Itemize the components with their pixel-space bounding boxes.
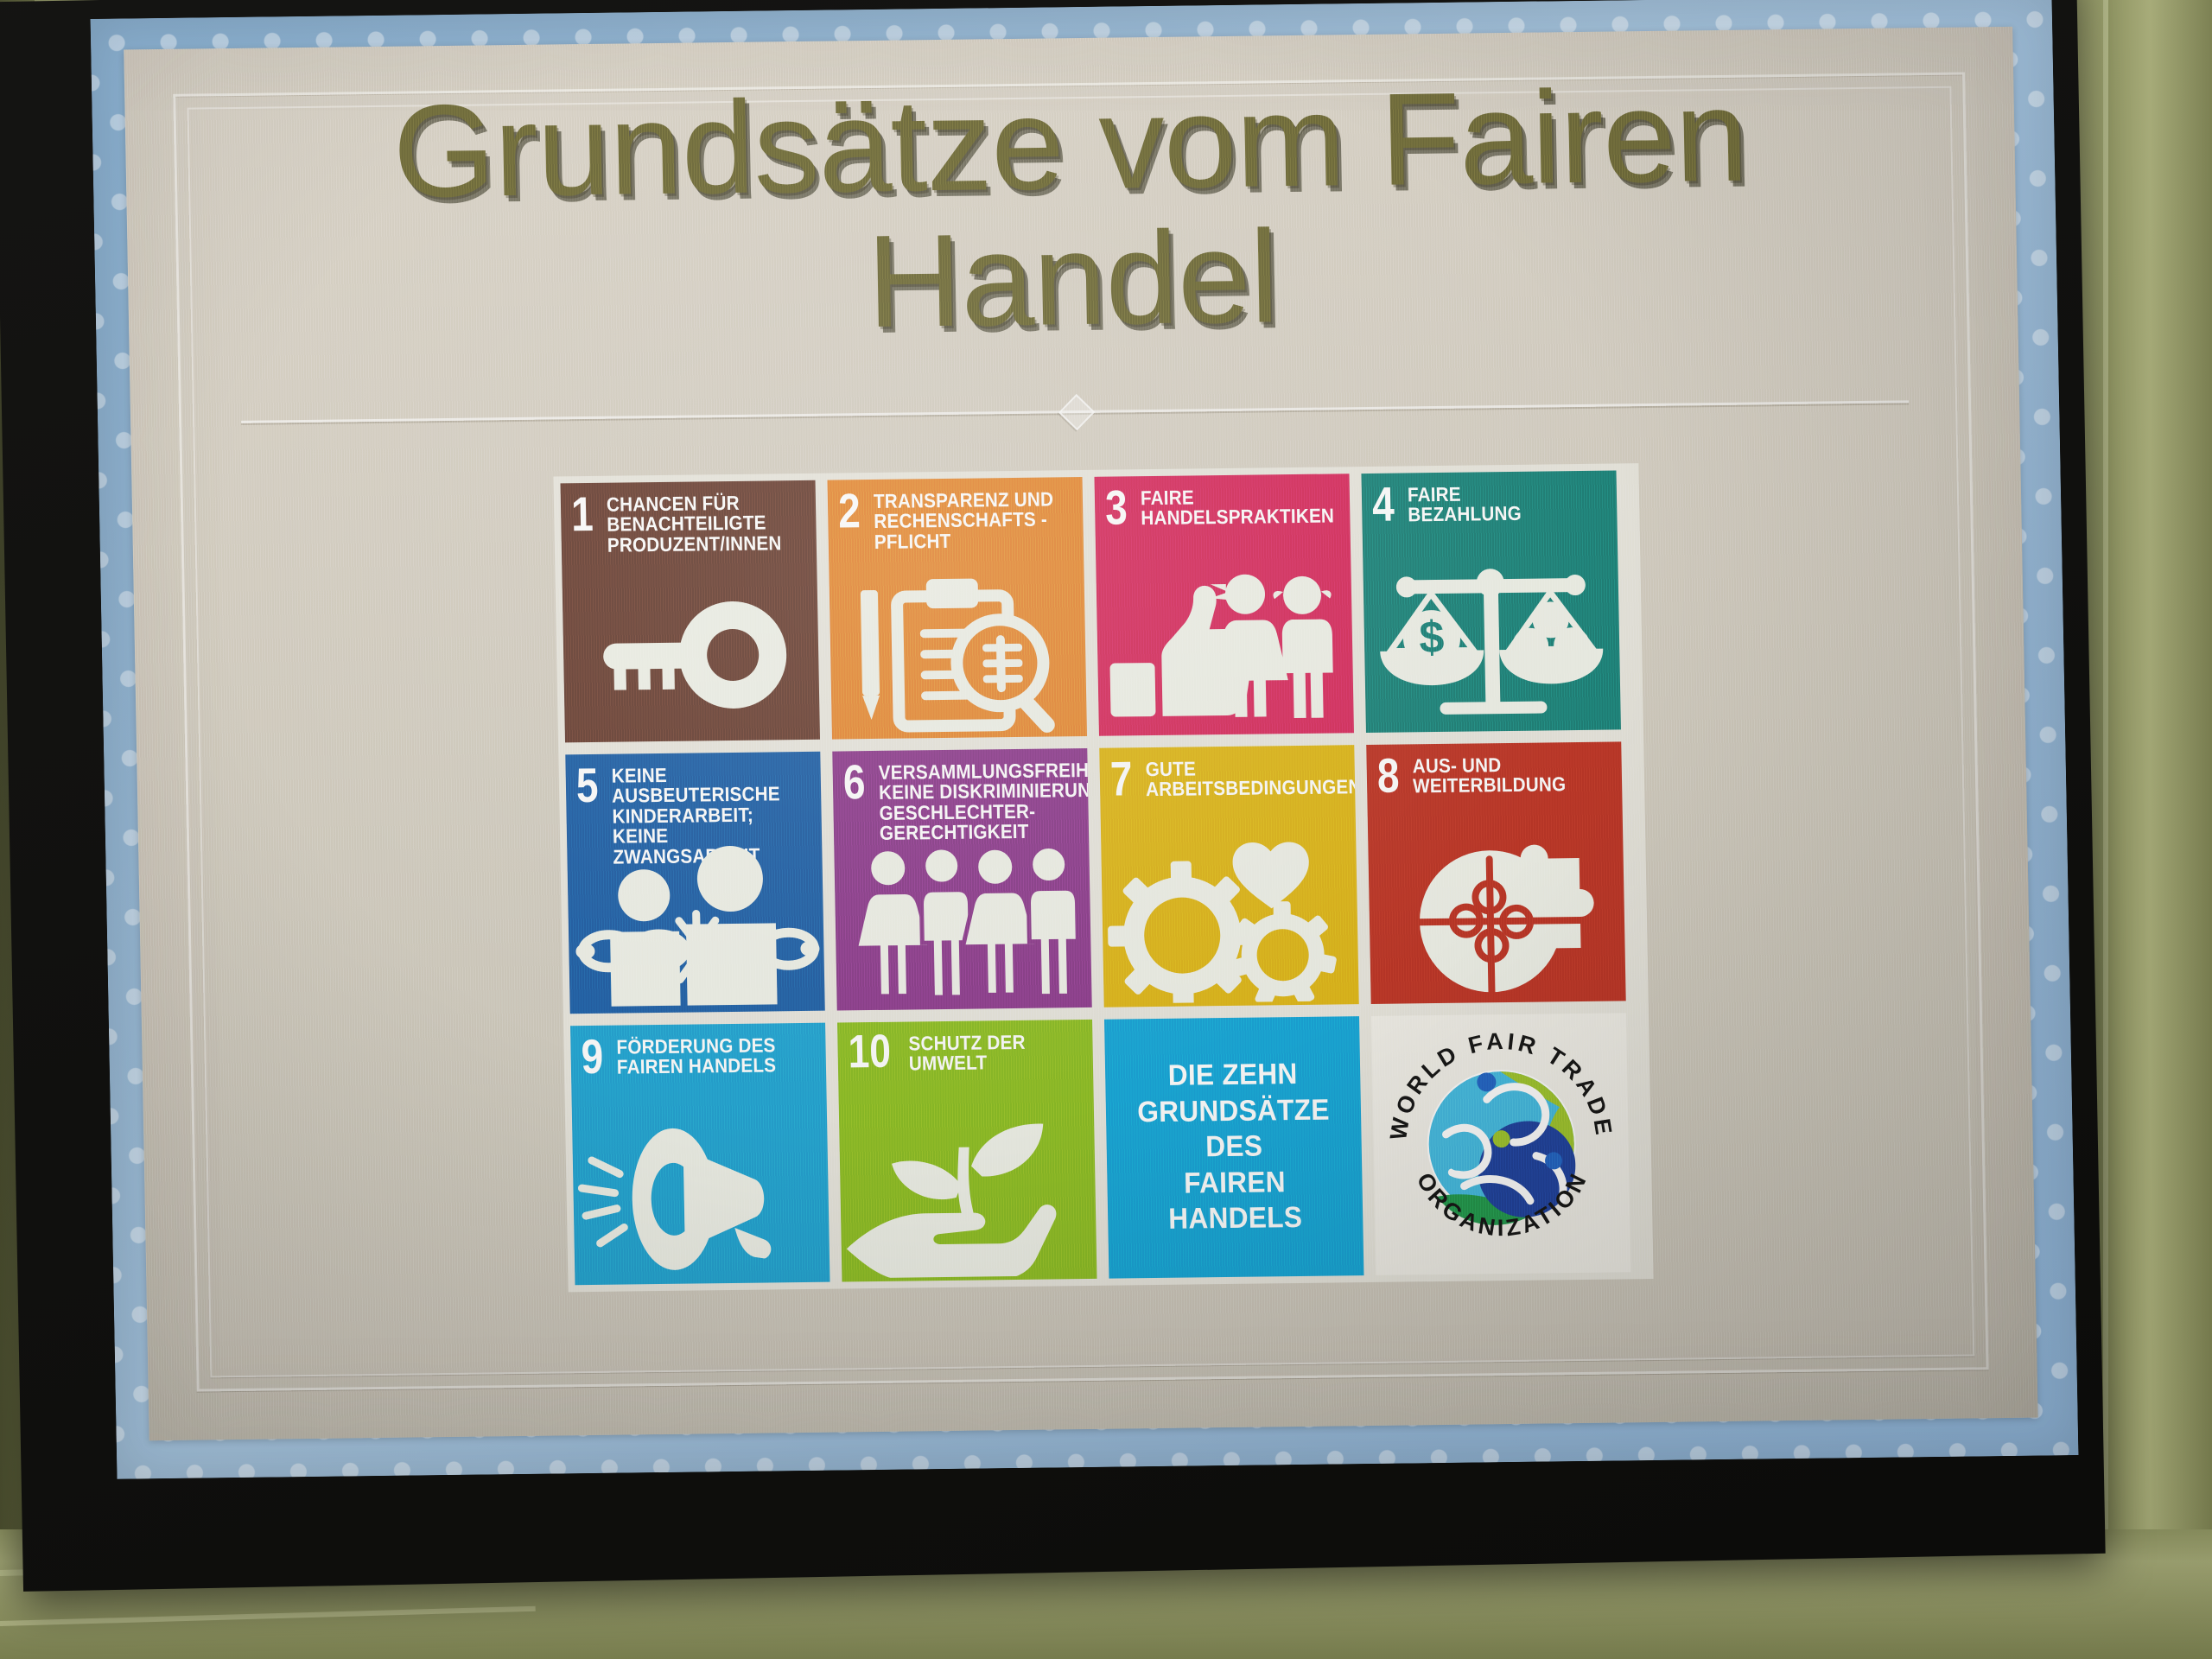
principle-tile-4[interactable]: 4 Faire Bezahlung — [1361, 470, 1620, 733]
tile-number: 8 — [1376, 753, 1399, 798]
wall-right-pillar — [2108, 0, 2212, 1659]
title-divider — [241, 389, 1909, 434]
tile-header: 7 Gute Arbeitsbedingungen — [1109, 753, 1348, 801]
tile-number: 3 — [1105, 485, 1128, 530]
key-icon — [562, 572, 819, 740]
tile-number: 4 — [1372, 482, 1395, 527]
principle-tile-3[interactable]: 3 Faire Handelspraktiken — [1094, 474, 1353, 736]
puzzle-circle-icon — [1368, 833, 1625, 1001]
wfto-logo-tile[interactable]: WORLD FAIR TRADE ORGANIZATION — [1371, 1013, 1630, 1275]
tile-label: Versammlungsfreiheit; keine Diskriminier… — [879, 756, 1092, 843]
floor-line-2 — [0, 1606, 536, 1626]
hand-sprout-icon — [839, 1111, 1096, 1279]
tile-label: Faire Handelspraktiken — [1141, 482, 1335, 529]
slide-title: Grundsätze vom Fairen Handel — [228, 66, 1915, 357]
tile-number: 5 — [575, 763, 598, 808]
tile-label: Schutz der Umwelt — [908, 1029, 1026, 1075]
broken-chain-icon — [567, 843, 824, 1011]
principle-tile-5[interactable]: 5 Keine ausbeuterische Kinderarbeit; kei… — [565, 752, 824, 1014]
tile-header: 10 Schutz der Umwelt — [848, 1028, 1086, 1075]
balance-scale-icon: $ — [1363, 562, 1620, 729]
principle-tile-6[interactable]: 6 Versammlungsfreiheit; keine Diskrimini… — [832, 748, 1091, 1011]
diamond-ornament-icon — [1058, 394, 1095, 430]
gears-heart-icon — [1101, 836, 1358, 1004]
tile-number: 7 — [1109, 756, 1132, 801]
principle-tile-9[interactable]: 9 Förderung des fairen Handels — [570, 1023, 829, 1286]
principle-tile-10[interactable]: 10 Schutz der Umwelt — [837, 1020, 1096, 1282]
tile-header: 1 Chancen für benachteiligte Produzent/i… — [571, 489, 810, 556]
summary-tile[interactable]: Die zehn Grundsätze des fairen Handels — [1104, 1016, 1363, 1279]
tile-header: 8 Aus- und Weiterbildung — [1376, 751, 1615, 798]
tile-number: 1 — [571, 492, 594, 537]
tile-label: Transparenz und Rechenschafts - pflicht — [874, 486, 1055, 552]
tile-header: 2 Transparenz und Rechenschafts - pflich… — [838, 486, 1077, 553]
four-people-icon — [834, 840, 1091, 1007]
thumbs-up-people-icon — [1096, 565, 1353, 733]
tile-number: 10 — [848, 1031, 891, 1074]
megaphone-icon — [572, 1115, 829, 1282]
tile-header: 3 Faire Handelspraktiken — [1105, 482, 1344, 530]
tile-label: Förderung des fairen Handels — [616, 1032, 776, 1077]
tile-label: Gute Arbeitsbedingungen — [1146, 753, 1359, 800]
slide-content-panel: Grundsätze vom Fairen Handel 1 Chancen f… — [124, 27, 2037, 1440]
principle-tile-8[interactable]: 8 Aus- und Weiterbildung — [1366, 741, 1625, 1004]
wfto-logo-icon: WORLD FAIR TRADE ORGANIZATION — [1382, 1025, 1621, 1262]
principle-tile-2[interactable]: 2 Transparenz und Rechenschafts - pflich… — [828, 477, 1087, 740]
principles-grid: 1 Chancen für benachteiligte Produzent/i… — [553, 463, 1653, 1292]
tile-number: 6 — [842, 760, 865, 804]
tile-number: 9 — [581, 1034, 603, 1079]
presentation-slide: Grundsätze vom Fairen Handel 1 Chancen f… — [91, 0, 2079, 1479]
principle-tile-1[interactable]: 1 Chancen für benachteiligte Produzent/i… — [561, 480, 820, 743]
tile-header: 6 Versammlungsfreiheit; keine Diskrimini… — [842, 757, 1082, 844]
principle-tile-7[interactable]: 7 Gute Arbeitsbedingungen — [1099, 745, 1358, 1007]
tile-label: Chancen für benachteiligte Produzent/inn… — [607, 489, 782, 556]
tile-number: 2 — [838, 488, 861, 533]
svg-text:$: $ — [1419, 613, 1445, 663]
clipboard-magnifier-icon — [829, 569, 1086, 736]
divider-line — [241, 400, 1909, 423]
tile-label: Aus- und Weiterbildung — [1413, 751, 1567, 797]
tile-header: 9 Förderung des fairen Handels — [581, 1032, 819, 1079]
summary-text: Die zehn Grundsätze des fairen Handels — [1114, 1057, 1354, 1239]
tile-label: Faire Bezahlung — [1408, 480, 1522, 526]
tile-header: 4 Faire Bezahlung — [1372, 480, 1611, 527]
